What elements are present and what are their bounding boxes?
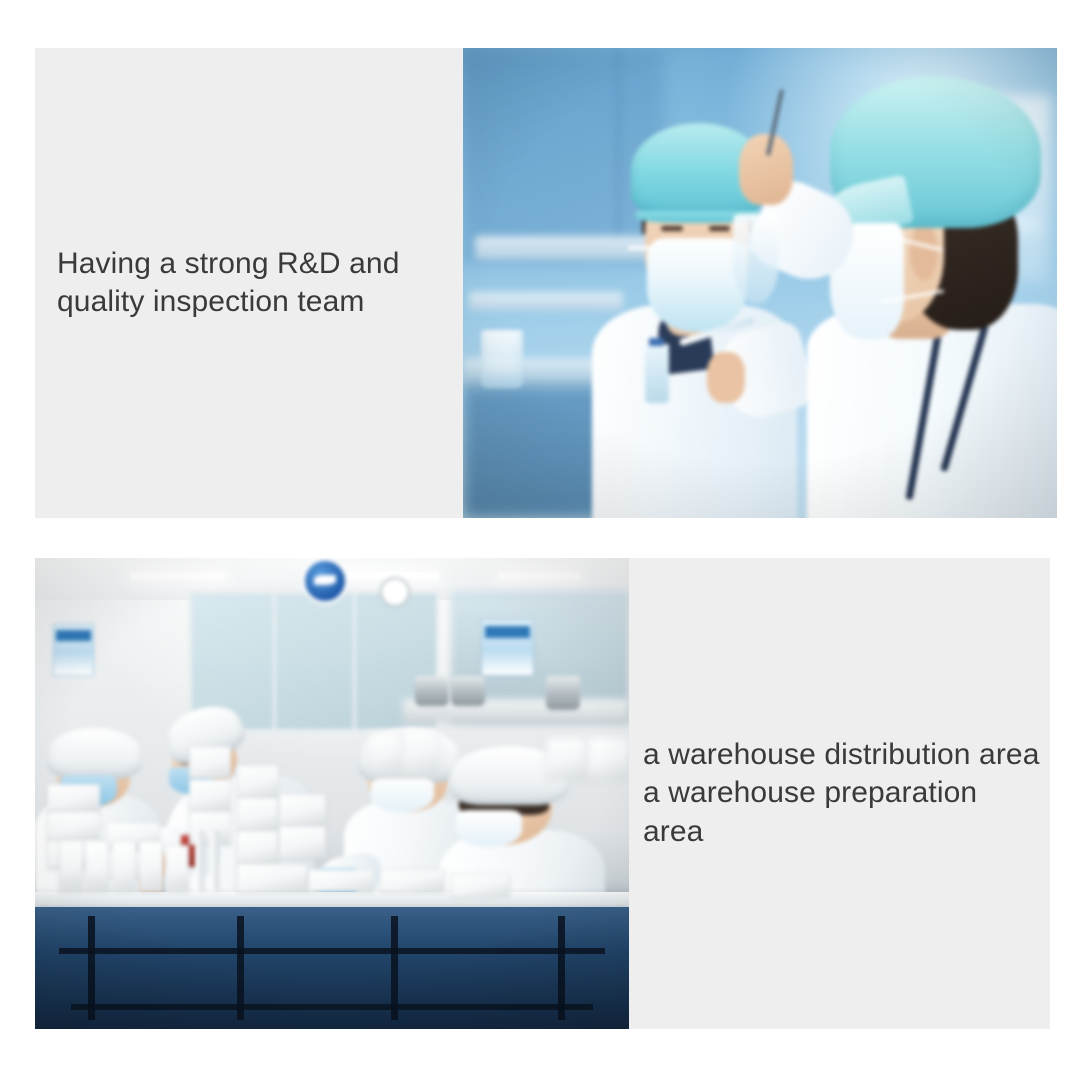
- carton-stack-item: [237, 765, 279, 798]
- steel-container-2: [451, 676, 485, 706]
- floor: [35, 907, 629, 1029]
- carton-stack-item: [279, 826, 327, 859]
- carton-background-item: [403, 728, 439, 775]
- cart-rail-lower: [71, 1004, 594, 1010]
- cart-leg: [391, 916, 398, 1020]
- ceiling-light-left: [130, 572, 225, 579]
- carton-stack-item: [279, 794, 327, 827]
- section-warehouse: a warehouse distribution area a warehous…: [35, 558, 1050, 1029]
- section-rd-quality: Having a strong R&D and quality inspecti…: [35, 48, 1057, 518]
- page-root: Having a strong R&D and quality inspecti…: [0, 0, 1080, 1080]
- steel-container-3: [546, 676, 580, 710]
- carton-background-item: [587, 737, 629, 779]
- carton-stack-item: [237, 798, 279, 831]
- glass-flask: [733, 214, 779, 303]
- face-mask: [371, 778, 434, 812]
- eye-left: [661, 226, 682, 231]
- carton-background-item: [546, 737, 588, 779]
- caption-pane-rd-quality: Having a strong R&D and quality inspecti…: [35, 48, 463, 518]
- carton-stack-item: [189, 779, 231, 812]
- raised-hand: [739, 134, 793, 205]
- carton-flat: [237, 864, 308, 892]
- hand: [707, 352, 745, 403]
- wall-sign-right: [481, 619, 534, 676]
- carton-upright: [59, 841, 83, 893]
- bottle-item: [210, 831, 219, 892]
- carton-upright: [139, 841, 163, 893]
- ear: [910, 223, 939, 281]
- technician-profile-figure: [796, 72, 1057, 519]
- ceiling-badge-icon: [302, 558, 348, 604]
- face-mask: [456, 810, 523, 847]
- cart-rail-upper: [59, 948, 605, 954]
- cart-leg: [237, 916, 244, 1020]
- wall-clock-icon: [380, 577, 410, 607]
- lab-technicians-photo: [463, 48, 1057, 518]
- carton-stack-item: [189, 746, 231, 779]
- face-mask: [647, 238, 747, 333]
- carton-flat: [451, 874, 510, 898]
- carton-upright: [85, 841, 109, 893]
- mask-strap-left: [628, 246, 649, 250]
- carton-upright: [112, 841, 136, 893]
- carton-flat: [380, 869, 445, 893]
- wall-sign-left: [53, 624, 95, 676]
- eye-right: [709, 226, 730, 231]
- glass-beaker: [481, 330, 523, 388]
- steel-container-1: [415, 676, 449, 706]
- carton-flat: [308, 869, 373, 893]
- ceiling-light-right: [498, 572, 581, 579]
- caption-rd-quality: Having a strong R&D and quality inspecti…: [57, 245, 399, 322]
- carton-stack-item: [47, 812, 100, 840]
- caption-warehouse: a warehouse distribution area a warehous…: [643, 736, 1042, 851]
- carton-stack-item: [237, 831, 279, 864]
- carton-upright: [166, 845, 190, 892]
- carton-background-item: [368, 732, 404, 774]
- bottle-item: [195, 831, 204, 892]
- cart-leg: [558, 916, 565, 1020]
- carton-stack-item: [47, 784, 100, 812]
- caption-pane-warehouse: a warehouse distribution area a warehous…: [629, 558, 1050, 1029]
- hairnet: [47, 728, 142, 779]
- reagent-bottle: [645, 344, 669, 403]
- packing-room-photo: [35, 558, 629, 1029]
- cart-leg: [88, 916, 95, 1020]
